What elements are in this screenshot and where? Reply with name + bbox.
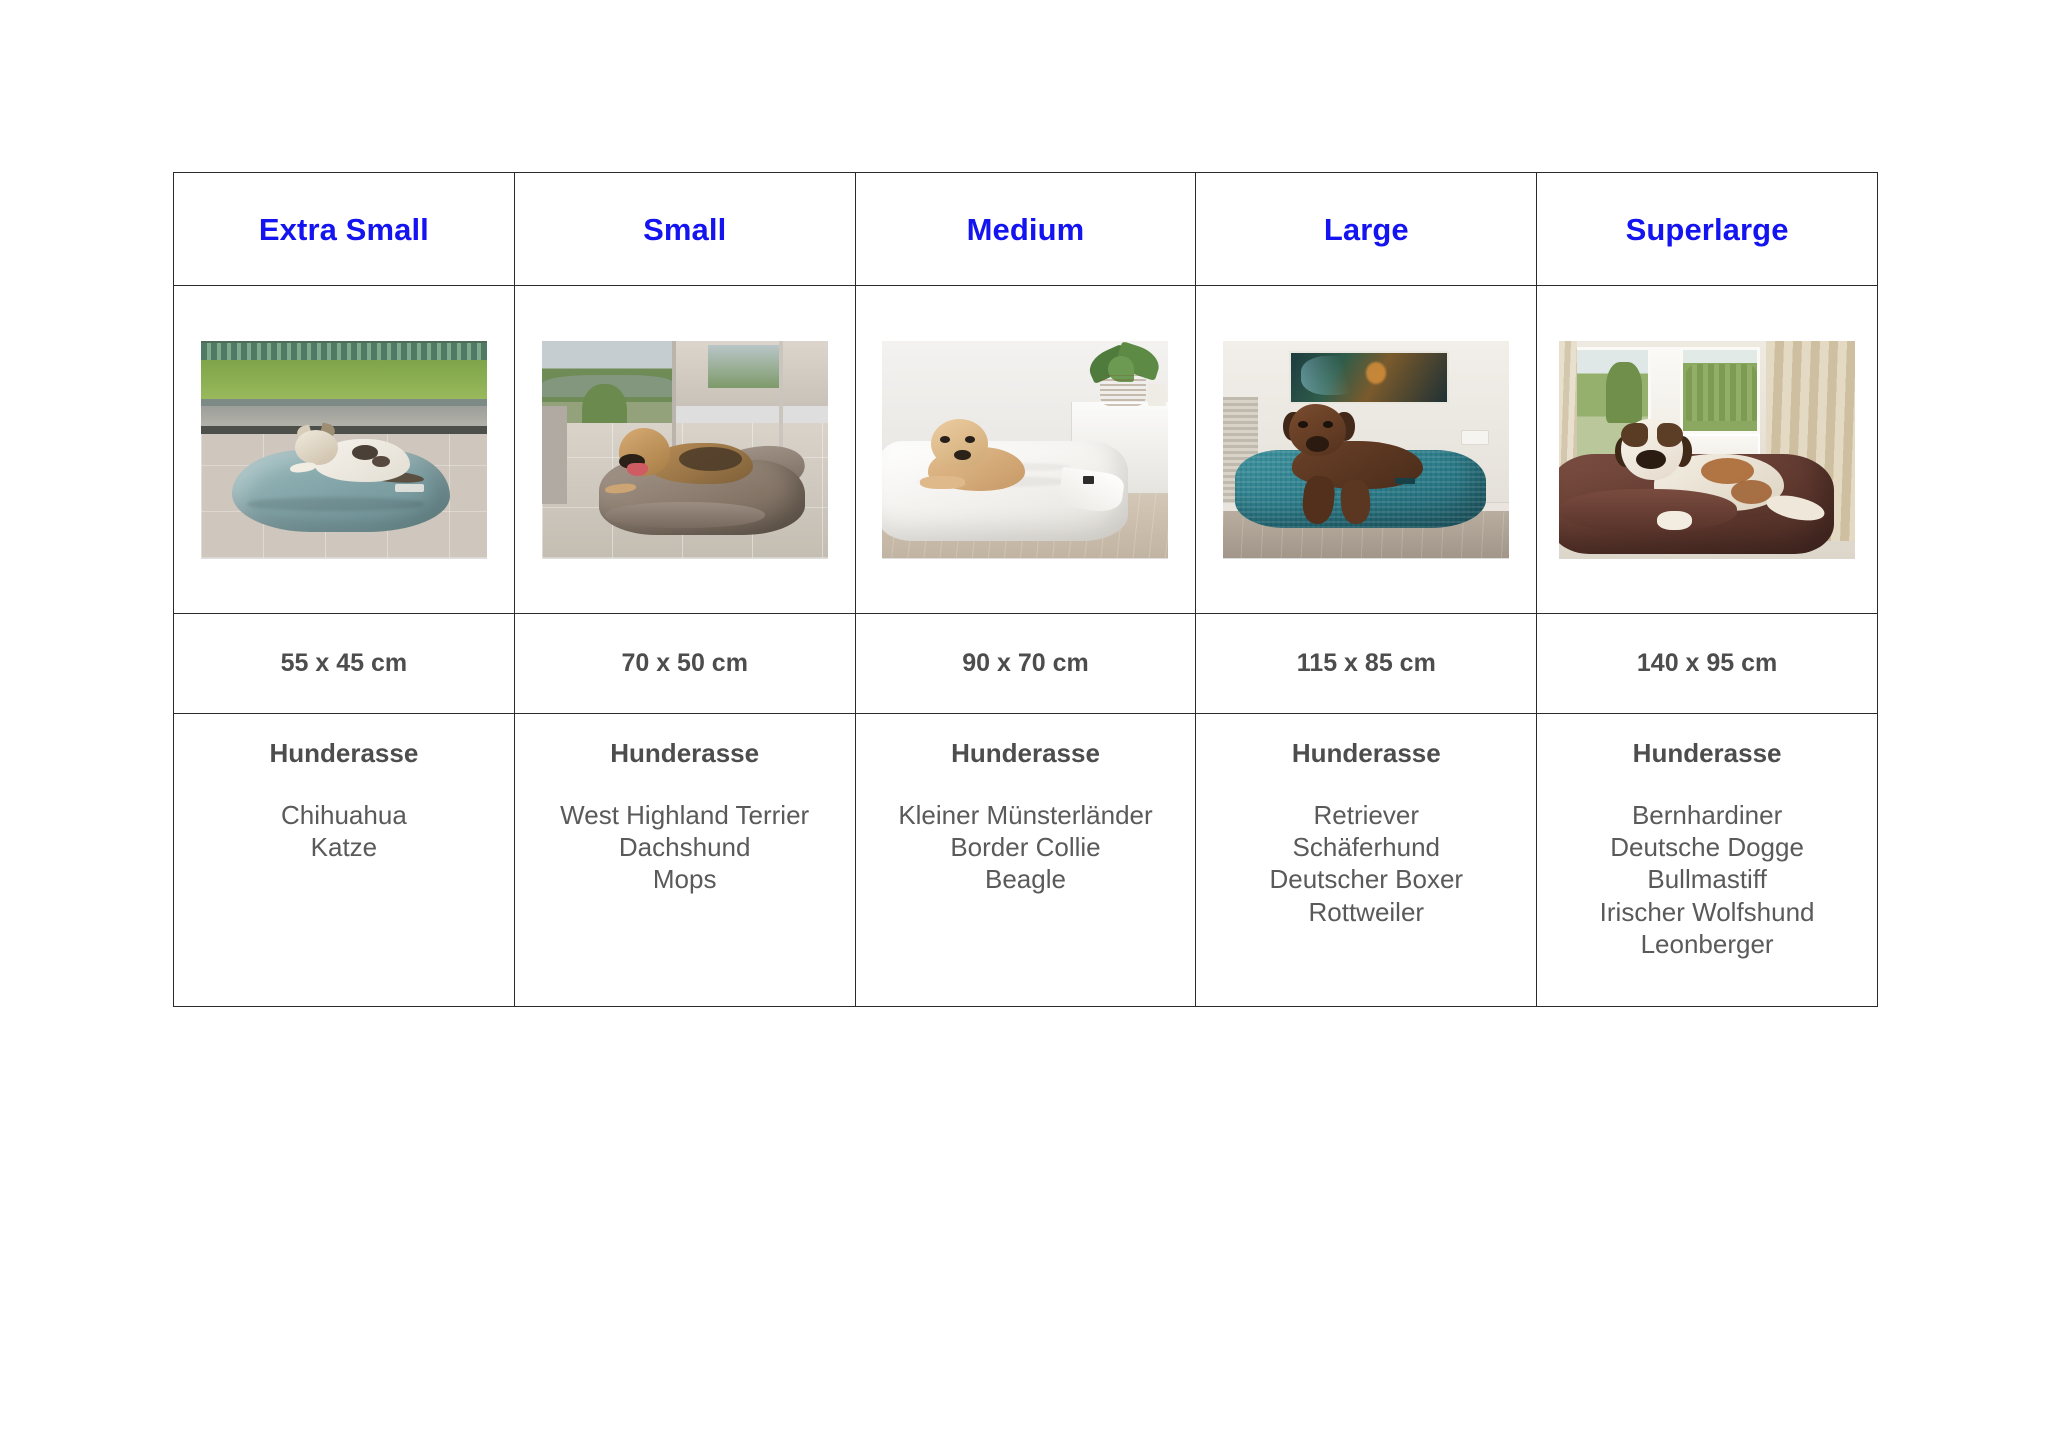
photo-dog-eye-right — [1323, 421, 1333, 428]
breed-item: Bullmastiff — [1600, 863, 1815, 895]
header-cell-medium: Medium — [855, 173, 1196, 286]
header-cell-small: Small — [514, 173, 855, 286]
breed-list-extra-small: Chihuahua Katze — [281, 799, 407, 863]
table-header-row: Extra Small Small Medium Large Superlarg… — [174, 173, 1878, 286]
breed-item: Schäferhund — [1269, 831, 1463, 863]
breed-item: Bernhardiner — [1600, 799, 1815, 831]
breed-item: Deutscher Boxer — [1269, 863, 1463, 895]
breed-item: Dachshund — [560, 831, 809, 863]
photo-dog-snout — [1306, 436, 1329, 451]
photo-hedge — [1686, 364, 1757, 421]
breeds-cell-small: Hunderasse West Highland Terrier Dachshu… — [514, 714, 855, 1007]
photo-door-sill — [201, 426, 487, 435]
product-photo-small — [542, 341, 828, 559]
header-cell-extra-small: Extra Small — [174, 173, 515, 286]
size-name-large: Large — [1196, 214, 1536, 245]
image-wrapper-large — [1196, 286, 1536, 613]
dimensions-medium: 90 x 70 cm — [856, 649, 1196, 678]
dimensions-extra-small: 55 x 45 cm — [174, 649, 514, 678]
breed-block-small: Hunderasse West Highland Terrier Dachshu… — [515, 714, 855, 896]
dimensions-superlarge: 140 x 95 cm — [1537, 649, 1877, 678]
photo-cat-head — [295, 430, 338, 465]
breed-heading-small: Hunderasse — [610, 738, 759, 769]
photo-brand-tag — [1395, 478, 1415, 485]
breed-item: Kleiner Münsterländer — [898, 799, 1152, 831]
breed-item: Mops — [560, 863, 809, 895]
photo-art-detail — [1301, 356, 1364, 395]
image-cell-extra-small — [174, 286, 515, 614]
breed-block-superlarge: Hunderasse Bernhardiner Deutsche Dogge B… — [1537, 714, 1877, 960]
breed-item: Beagle — [898, 863, 1152, 895]
photo-dog-snout — [1636, 450, 1666, 470]
photo-plant-pot — [1100, 375, 1146, 406]
product-photo-extra-small — [201, 341, 487, 559]
breed-item: Rottweiler — [1269, 896, 1463, 928]
image-cell-small — [514, 286, 855, 614]
breed-item: Border Collie — [898, 831, 1152, 863]
breed-block-large: Hunderasse Retriever Schäferhund Deutsch… — [1196, 714, 1536, 928]
dimensions-cell-medium: 90 x 70 cm — [855, 614, 1196, 714]
dimensions-large: 115 x 85 cm — [1196, 649, 1536, 678]
photo-door-frame — [542, 406, 568, 504]
breed-heading-extra-small: Hunderasse — [269, 738, 418, 769]
image-cell-superlarge — [1537, 286, 1878, 614]
photo-dog-leg — [1339, 479, 1370, 524]
photo-brand-tag — [395, 484, 424, 492]
breed-list-superlarge: Bernhardiner Deutsche Dogge Bullmastiff … — [1600, 799, 1815, 960]
breeds-cell-large: Hunderasse Retriever Schäferhund Deutsch… — [1196, 714, 1537, 1007]
breed-block-extra-small: Hunderasse Chihuahua Katze — [174, 714, 514, 863]
photo-brand-label — [1083, 476, 1094, 485]
photo-bed-front-roll — [1559, 489, 1737, 533]
product-photo-medium — [882, 341, 1168, 559]
breeds-cell-extra-small: Hunderasse Chihuahua Katze — [174, 714, 515, 1007]
photo-dog-paws — [920, 476, 966, 489]
breed-heading-superlarge: Hunderasse — [1633, 738, 1782, 769]
size-name-extra-small: Extra Small — [174, 214, 514, 245]
photo-lawn — [201, 360, 487, 404]
breed-list-large: Retriever Schäferhund Deutscher Boxer Ro… — [1269, 799, 1463, 928]
size-name-superlarge: Superlarge — [1537, 214, 1877, 245]
photo-dog-paw — [1657, 511, 1693, 531]
dimensions-cell-small: 70 x 50 cm — [514, 614, 855, 714]
dog-bed-size-table: Extra Small Small Medium Large Superlarg… — [173, 172, 1878, 1007]
photo-window-frame — [779, 341, 783, 454]
image-wrapper-superlarge — [1537, 286, 1877, 613]
breed-item: West Highland Terrier — [560, 799, 809, 831]
photo-window-view-2 — [708, 345, 782, 389]
breed-list-medium: Kleiner Münsterländer Border Collie Beag… — [898, 799, 1152, 896]
photo-terrace — [201, 406, 487, 428]
breeds-cell-superlarge: Hunderasse Bernhardiner Deutsche Dogge B… — [1537, 714, 1878, 1007]
breed-block-medium: Hunderasse Kleiner Münsterländer Border … — [856, 714, 1196, 896]
header-cell-superlarge: Superlarge — [1537, 173, 1878, 286]
breed-heading-large: Hunderasse — [1292, 738, 1441, 769]
breed-heading-medium: Hunderasse — [951, 738, 1100, 769]
dimensions-small: 70 x 50 cm — [515, 649, 855, 678]
table-image-row — [174, 286, 1878, 614]
product-photo-superlarge — [1559, 341, 1855, 559]
image-cell-large — [1196, 286, 1537, 614]
header-cell-large: Large — [1196, 173, 1537, 286]
dimensions-cell-extra-small: 55 x 45 cm — [174, 614, 515, 714]
photo-dog-eye-left — [940, 436, 950, 443]
photo-wall-socket — [1461, 430, 1490, 445]
breed-item: Leonberger — [1600, 928, 1815, 960]
size-name-small: Small — [515, 214, 855, 245]
table-dimensions-row: 55 x 45 cm 70 x 50 cm 90 x 70 cm 115 x 8… — [174, 614, 1878, 714]
table-breeds-row: Hunderasse Chihuahua Katze Hunderasse We… — [174, 714, 1878, 1007]
breed-item: Irischer Wolfshund — [1600, 896, 1815, 928]
breed-item: Retriever — [1269, 799, 1463, 831]
image-wrapper-medium — [856, 286, 1196, 613]
breed-item: Deutsche Dogge — [1600, 831, 1815, 863]
image-wrapper-small — [515, 286, 855, 613]
breed-item: Chihuahua — [281, 799, 407, 831]
page-canvas: Extra Small Small Medium Large Superlarg… — [0, 0, 2048, 1448]
size-name-medium: Medium — [856, 214, 1196, 245]
photo-dog-eye-left — [1298, 421, 1308, 428]
image-wrapper-extra-small — [174, 286, 514, 613]
photo-shrub — [1606, 362, 1642, 423]
photo-dog-tongue — [627, 463, 647, 476]
breed-list-small: West Highland Terrier Dachshund Mops — [560, 799, 809, 896]
breed-item: Katze — [281, 831, 407, 863]
photo-dog-face-mask — [1621, 423, 1648, 447]
dimensions-cell-large: 115 x 85 cm — [1196, 614, 1537, 714]
photo-hedge — [201, 343, 487, 360]
photo-cat-spot — [372, 456, 389, 467]
image-cell-medium — [855, 286, 1196, 614]
dimensions-cell-superlarge: 140 x 95 cm — [1537, 614, 1878, 714]
breeds-cell-medium: Hunderasse Kleiner Münsterländer Border … — [855, 714, 1196, 1007]
photo-candle — [1148, 384, 1165, 406]
photo-bed-fold — [247, 497, 424, 510]
product-photo-large — [1223, 341, 1509, 559]
photo-bed-front-roll — [605, 502, 765, 528]
